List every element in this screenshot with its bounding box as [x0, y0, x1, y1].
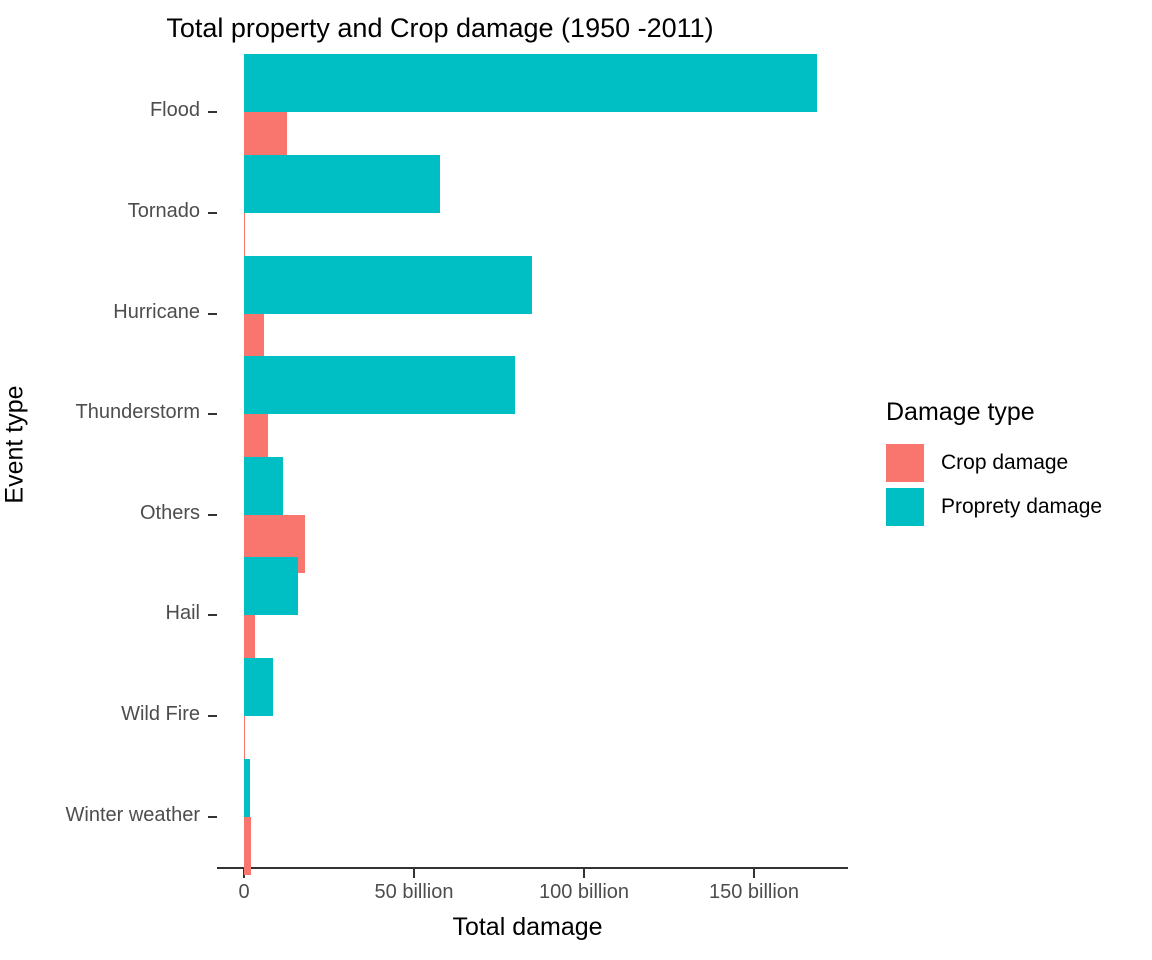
x-axis-tick-label: 100 billion [539, 881, 629, 904]
bar-hurricane-proprety-damage [244, 256, 532, 314]
x-axis-tick-label: 0 [238, 881, 249, 904]
y-axis-tick-mark [208, 614, 217, 616]
legend-title: Damage type [886, 398, 1102, 427]
bar-winter-weather-crop-damage [244, 817, 251, 875]
bar-chart: Total property and Crop damage (1950 -20… [0, 0, 1152, 960]
y-axis-tick-label-winter-weather: Winter weather [0, 804, 200, 827]
y-axis-tick-mark [208, 313, 217, 315]
y-axis-tick-label-hail: Hail [0, 602, 200, 625]
legend-swatch-icon [886, 444, 924, 482]
bar-hail-proprety-damage [244, 557, 298, 615]
bar-wild-fire-proprety-damage [244, 658, 273, 716]
chart-title: Total property and Crop damage (1950 -20… [0, 13, 880, 44]
bar-others-proprety-damage [244, 457, 283, 515]
bar-tornado-proprety-damage [244, 155, 440, 213]
y-axis-tick-mark [208, 413, 217, 415]
y-axis-tick-label-thunderstorm: Thunderstorm [0, 401, 200, 424]
y-axis-tick-label-tornado: Tornado [0, 200, 200, 223]
x-axis-tick-label: 50 billion [375, 881, 454, 904]
x-axis-title: Total damage [240, 913, 815, 942]
legend-label: Proprety damage [941, 495, 1102, 519]
x-axis-tick-mark [753, 869, 755, 878]
y-axis-tick-mark [208, 514, 217, 516]
legend-entries: Crop damageProprety damage [886, 441, 1102, 529]
legend-swatch-icon [886, 488, 924, 526]
y-axis-tick-mark [208, 816, 217, 818]
legend-label: Crop damage [941, 451, 1068, 475]
y-axis-tick-mark [208, 212, 217, 214]
bar-thunderstorm-proprety-damage [244, 356, 515, 414]
bar-winter-weather-proprety-damage [244, 759, 250, 817]
y-axis-tick-label-wild-fire: Wild Fire [0, 703, 200, 726]
legend-item: Crop damage [886, 441, 1102, 485]
y-axis-tick-mark [208, 715, 217, 717]
y-axis-tick-label-flood: Flood [0, 99, 200, 122]
legend: Damage type Crop damageProprety damage [886, 398, 1102, 529]
y-axis-tick-label-others: Others [0, 502, 200, 525]
x-axis-tick-mark [583, 869, 585, 878]
x-axis-tick-label: 150 billion [709, 881, 799, 904]
bar-flood-proprety-damage [244, 54, 817, 112]
y-axis-tick-mark [208, 111, 217, 113]
y-axis-tick-label-hurricane: Hurricane [0, 301, 200, 324]
x-axis-tick-mark [413, 869, 415, 878]
legend-item: Proprety damage [886, 485, 1102, 529]
